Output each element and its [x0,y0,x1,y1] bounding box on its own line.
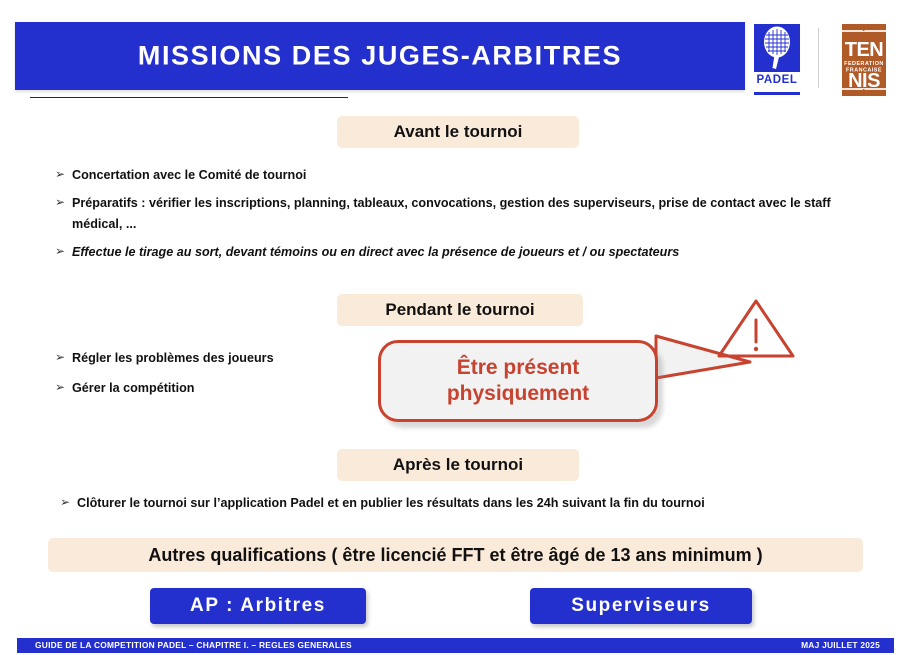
bullet-list-during: ➢ Régler les problèmes des joueurs ➢ Gér… [55,348,385,409]
slide-canvas: MISSIONS DES JUGES-ARBITRES [0,0,911,655]
svg-text:NIS: NIS [848,70,880,92]
button-superviseurs[interactable]: Superviseurs [530,588,752,624]
qualifications-banner: Autres qualifications ( être licencié FF… [48,538,863,572]
list-item: ➢ Gérer la compétition [55,378,385,398]
page-title: MISSIONS DES JUGES-ARBITRES [15,41,745,72]
bullet-arrow-icon: ➢ [55,165,72,184]
padel-logo-rule [754,92,800,95]
fft-tennis-logo: TEN FEDERATION FRANCAISE NIS [840,24,888,96]
bullet-arrow-icon: ➢ [55,348,72,367]
svg-text:TEN: TEN [845,39,884,61]
padel-logo: PADEL [752,24,802,100]
title-underline-rule [30,97,348,98]
list-item-text: Clôturer le tournoi sur l’application Pa… [77,493,860,513]
section-pill-after: Après le tournoi [337,449,579,481]
fft-tennis-icon: TEN FEDERATION FRANCAISE NIS [840,24,888,96]
bullet-arrow-icon: ➢ [55,193,72,212]
list-item-text: Effectue le tirage au sort, devant témoi… [72,242,865,262]
list-item-text: Régler les problèmes des joueurs [72,348,385,368]
bullet-arrow-icon: ➢ [60,493,77,512]
padel-racket-icon [754,24,800,72]
callout-line-2: physiquement [447,381,589,407]
section-pill-before: Avant le tournoi [337,116,579,148]
list-item: ➢ Concertation avec le Comité de tournoi [55,165,865,185]
callout-line-1: Être présent [457,355,580,381]
callout-text: Être présent physiquement [378,340,658,422]
logo-divider [818,28,819,88]
footer-right-text: MAJ JUILLET 2025 [801,638,880,653]
list-item: ➢ Effectue le tirage au sort, devant tém… [55,242,865,262]
bullet-arrow-icon: ➢ [55,378,72,397]
list-item-text: Gérer la compétition [72,378,385,398]
padel-logo-square [754,24,800,72]
footer-bar: GUIDE DE LA COMPETITION PADEL – CHAPITRE… [17,638,894,653]
padel-logo-label: PADEL [752,74,802,86]
list-item-text: Concertation avec le Comité de tournoi [72,165,865,185]
list-item-text: Préparatifs : vérifier les inscriptions,… [72,193,865,234]
list-item: ➢ Préparatifs : vérifier les inscription… [55,193,865,234]
bullet-list-before: ➢ Concertation avec le Comité de tournoi… [55,165,865,271]
section-pill-during: Pendant le tournoi [337,294,583,326]
list-item: ➢ Régler les problèmes des joueurs [55,348,385,368]
callout-bubble: Être présent physiquement [378,340,658,422]
warning-triangle-icon [715,296,797,360]
footer-left-text: GUIDE DE LA COMPETITION PADEL – CHAPITRE… [35,638,352,653]
button-ap-arbitres[interactable]: AP : Arbitres [150,588,366,624]
bullet-list-after: ➢ Clôturer le tournoi sur l’application … [60,493,860,513]
header-title-bar: MISSIONS DES JUGES-ARBITRES [15,22,745,90]
list-item: ➢ Clôturer le tournoi sur l’application … [60,493,860,513]
bullet-arrow-icon: ➢ [55,242,72,261]
svg-text:FEDERATION: FEDERATION [844,61,884,67]
